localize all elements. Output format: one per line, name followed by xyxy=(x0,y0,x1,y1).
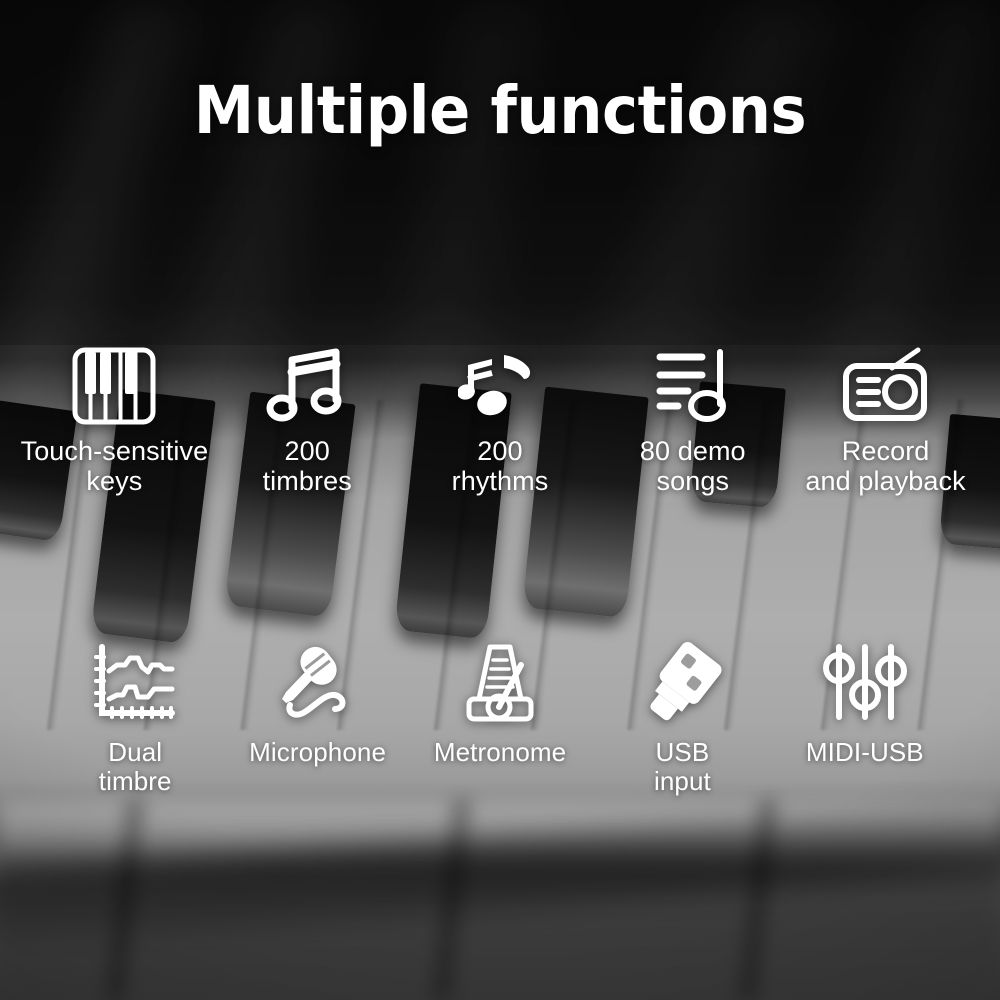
feature-row-2: Dual timbre Microphone xyxy=(0,640,1000,796)
microphone-icon xyxy=(273,640,363,728)
feature-label: Record and playback xyxy=(805,436,965,496)
feature-item-microphone[interactable]: Microphone xyxy=(226,640,408,767)
feature-label: Touch-sensitive keys xyxy=(21,436,209,496)
page-title: Multiple functions xyxy=(40,72,960,149)
sliders-icon xyxy=(822,640,908,728)
feature-item-80-demo-songs[interactable]: 80 demo songs xyxy=(596,344,789,496)
feature-item-dual-timbre[interactable]: Dual timbre xyxy=(44,640,226,796)
feature-label: MIDI-USB xyxy=(806,738,924,767)
feature-item-metronome[interactable]: Metronome xyxy=(409,640,591,767)
beamed-notes-icon xyxy=(266,344,348,428)
feature-label: USB input xyxy=(654,738,711,796)
feature-label: 80 demo songs xyxy=(640,436,746,496)
feature-item-200-timbres[interactable]: 200 timbres xyxy=(211,344,404,496)
metronome-icon xyxy=(459,640,541,728)
feature-item-usb-input[interactable]: USB input xyxy=(591,640,773,796)
feature-item-touch-sensitive-keys[interactable]: Touch-sensitive keys xyxy=(18,344,211,496)
feature-label: Metronome xyxy=(434,738,566,767)
waveform-chart-icon xyxy=(92,640,178,728)
product-feature-banner: Multiple functions xyxy=(0,0,1000,1000)
feature-label: 200 rhythms xyxy=(452,436,549,496)
feature-label: Microphone xyxy=(249,738,386,767)
piano-keyboard-icon xyxy=(71,344,157,428)
feature-item-record-and-playback[interactable]: Record and playback xyxy=(789,344,982,496)
playlist-note-icon xyxy=(652,344,734,428)
feature-label: 200 timbres xyxy=(263,436,352,496)
usb-plug-icon xyxy=(641,640,723,728)
radio-icon xyxy=(840,344,932,428)
feature-item-200-rhythms[interactable]: 200 rhythms xyxy=(404,344,597,496)
feature-item-midi-usb[interactable]: MIDI-USB xyxy=(774,640,956,767)
music-notes-icon xyxy=(458,344,542,428)
feature-row-1: Touch-sensitive keys 200 timbres xyxy=(0,344,1000,496)
feature-label: Dual timbre xyxy=(99,738,172,796)
